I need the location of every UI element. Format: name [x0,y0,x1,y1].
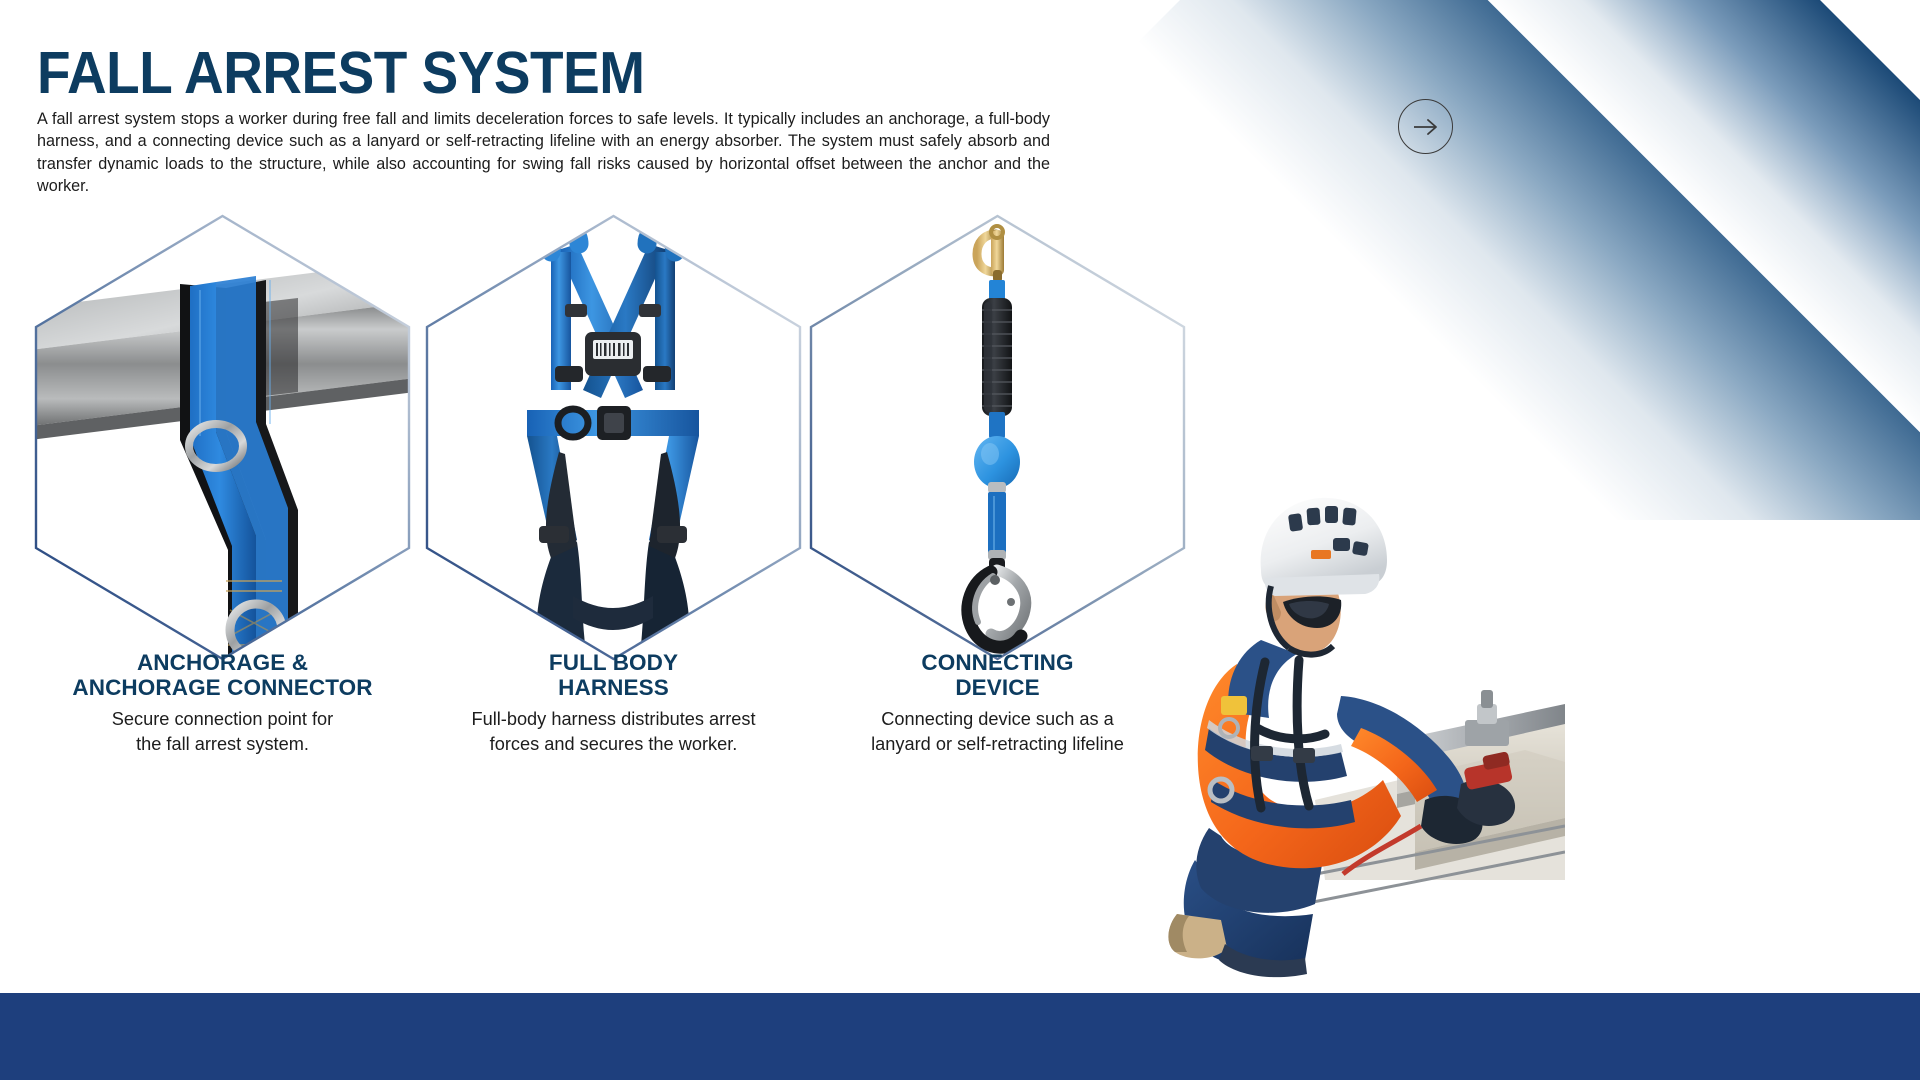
harness-photo [421,210,806,665]
card-title-line1: CONNECTING [805,650,1190,675]
caption-full-body-harness: FULL BODY HARNESS Full-body harness dist… [421,650,806,757]
page-title: FALL ARREST SYSTEM [37,44,644,103]
caption-connecting-device: CONNECTING DEVICE Connecting device such… [805,650,1190,757]
card-connecting-device[interactable]: CONNECTING DEVICE Connecting device such… [805,210,1190,770]
hex-frame-connecting-device [805,210,1190,665]
anchorage-photo [30,210,415,665]
card-title-line2: HARNESS [421,675,806,700]
worker-harness [1255,660,1325,808]
connecting-device-photo [805,210,1190,665]
worker-head [1261,498,1387,655]
card-title-line1: ANCHORAGE & [30,650,415,675]
card-desc-line1: Connecting device such as a [805,707,1190,732]
card-desc-line2: the fall arrest system. [30,732,415,757]
card-desc-line2: forces and secures the worker. [421,732,806,757]
card-title-line2: DEVICE [805,675,1190,700]
bottom-bar [0,993,1920,1080]
card-anchorage[interactable]: ANCHORAGE & ANCHORAGE CONNECTOR Secure c… [30,210,415,770]
caption-anchorage: ANCHORAGE & ANCHORAGE CONNECTOR Secure c… [30,650,415,757]
card-desc-line1: Full-body harness distributes arrest [421,707,806,732]
card-desc-line2: lanyard or self-retracting lifeline [805,732,1190,757]
next-slide-button[interactable] [1398,99,1453,154]
hex-frame-harness [421,210,806,665]
card-desc-line1: Secure connection point for [30,707,415,732]
card-title-line2: ANCHORAGE CONNECTOR [30,675,415,700]
card-title-line1: FULL BODY [421,650,806,675]
arrow-right-icon [1411,116,1441,138]
worker-illustration [1165,428,1565,998]
card-group: ANCHORAGE & ANCHORAGE CONNECTOR Secure c… [0,210,1180,770]
intro-paragraph: A fall arrest system stops a worker duri… [37,108,1050,197]
card-full-body-harness[interactable]: FULL BODY HARNESS Full-body harness dist… [421,210,806,770]
hex-frame-anchorage [30,210,415,665]
